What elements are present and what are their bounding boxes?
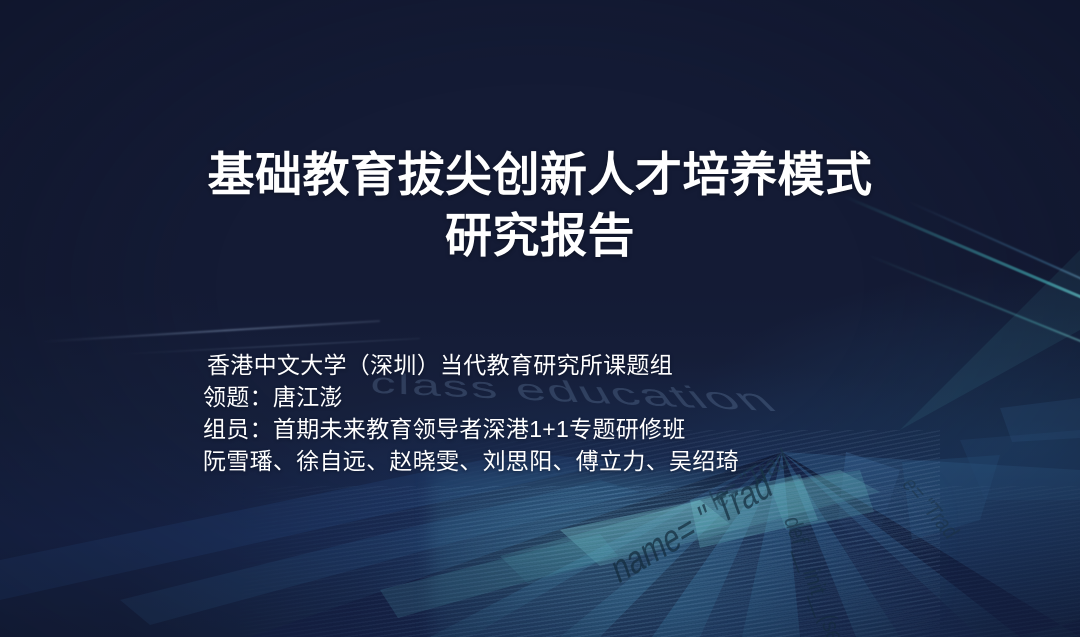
author-member-names: 阮雪璠、徐自远、赵晓雯、刘思阳、傅立力、吴绍琦 — [203, 446, 739, 478]
author-lead: 领题：唐江澎 — [203, 382, 739, 414]
title-line-1: 基础教育拔尖创新人才培养模式 — [0, 144, 1080, 205]
presentation-slide: class education name= " Trad le= "Trad d… — [0, 0, 1080, 637]
author-members-label: 组员：首期未来教育领导者深港1+1专题研修班 — [203, 414, 739, 446]
slide-content: 基础教育拔尖创新人才培养模式 研究报告 香港中文大学（深圳）当代教育研究所课题组… — [0, 0, 1080, 637]
slide-title: 基础教育拔尖创新人才培养模式 研究报告 — [0, 144, 1080, 266]
author-organization: 香港中文大学（深圳）当代教育研究所课题组 — [203, 350, 739, 382]
title-line-2: 研究报告 — [0, 205, 1080, 266]
author-block: 香港中文大学（深圳）当代教育研究所课题组 领题：唐江澎 组员：首期未来教育领导者… — [203, 350, 739, 478]
